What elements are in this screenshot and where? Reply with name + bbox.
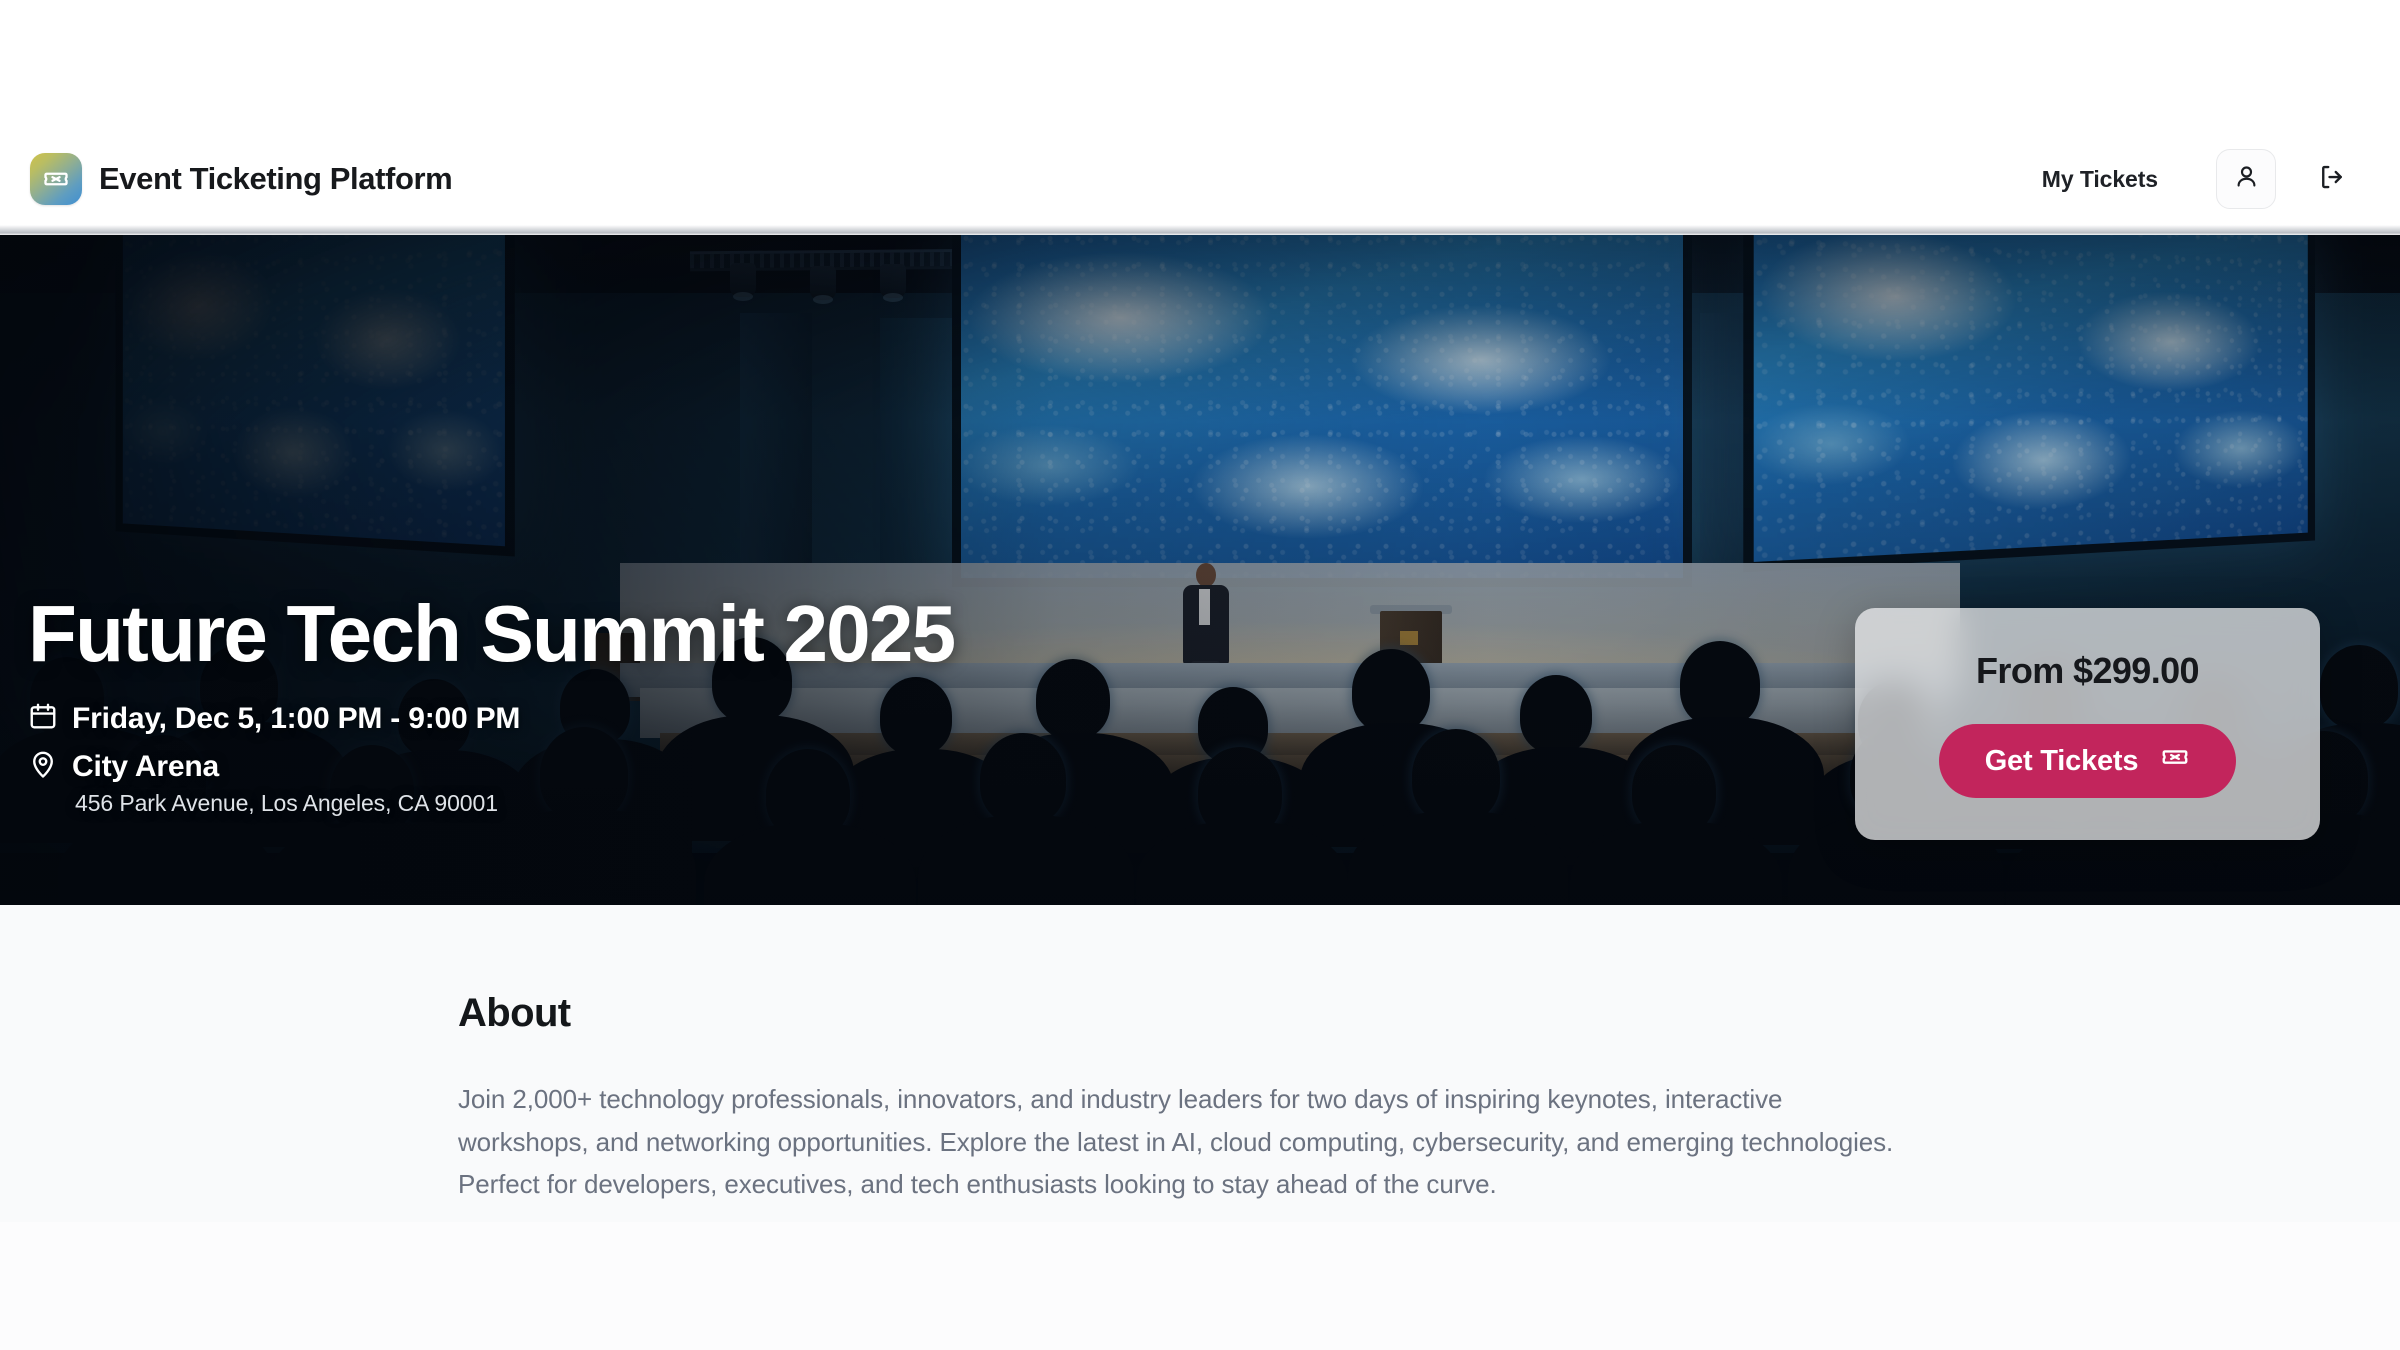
calendar-icon xyxy=(28,701,58,736)
hero-content: Future Tech Summit 2025 Friday, Dec 5, 1… xyxy=(28,593,954,817)
ticket-icon xyxy=(30,153,82,205)
event-detail-page: Event Ticketing Platform My Tickets xyxy=(0,0,2400,1350)
header-shadow xyxy=(0,225,2400,235)
logout-icon xyxy=(2317,162,2347,197)
get-tickets-button[interactable]: Get Tickets xyxy=(1939,724,2237,798)
about-description: Join 2,000+ technology professionals, in… xyxy=(458,1078,1900,1206)
page-bottom-area xyxy=(0,1222,2400,1350)
event-date-row: Friday, Dec 5, 1:00 PM - 9:00 PM xyxy=(28,701,954,736)
brand[interactable]: Event Ticketing Platform xyxy=(28,133,452,225)
hero-banner: Future Tech Summit 2025 Friday, Dec 5, 1… xyxy=(0,233,2400,905)
ticket-icon xyxy=(2160,742,2190,780)
logout-button[interactable] xyxy=(2302,149,2362,209)
price-from-label: From $299.00 xyxy=(1976,650,2199,692)
about-section: About Join 2,000+ technology professiona… xyxy=(0,905,2400,1222)
event-date-text: Friday, Dec 5, 1:00 PM - 9:00 PM xyxy=(72,702,520,736)
venue-name: City Arena xyxy=(72,750,219,784)
brand-name: Event Ticketing Platform xyxy=(99,161,452,197)
event-venue-row: City Arena xyxy=(28,749,954,784)
account-button[interactable] xyxy=(2216,149,2276,209)
map-pin-icon xyxy=(28,749,58,784)
venue-address: 456 Park Avenue, Los Angeles, CA 90001 xyxy=(75,790,954,817)
site-header: Event Ticketing Platform My Tickets xyxy=(0,133,2400,225)
user-icon xyxy=(2233,163,2260,195)
event-title: Future Tech Summit 2025 xyxy=(28,593,954,675)
top-white-strip xyxy=(0,0,2400,133)
header-nav: My Tickets xyxy=(2028,133,2372,225)
about-heading: About xyxy=(458,991,1900,1036)
nav-my-tickets[interactable]: My Tickets xyxy=(2028,156,2172,203)
ticket-price-card: From $299.00 Get Tickets xyxy=(1855,608,2320,840)
get-tickets-label: Get Tickets xyxy=(1985,745,2139,778)
